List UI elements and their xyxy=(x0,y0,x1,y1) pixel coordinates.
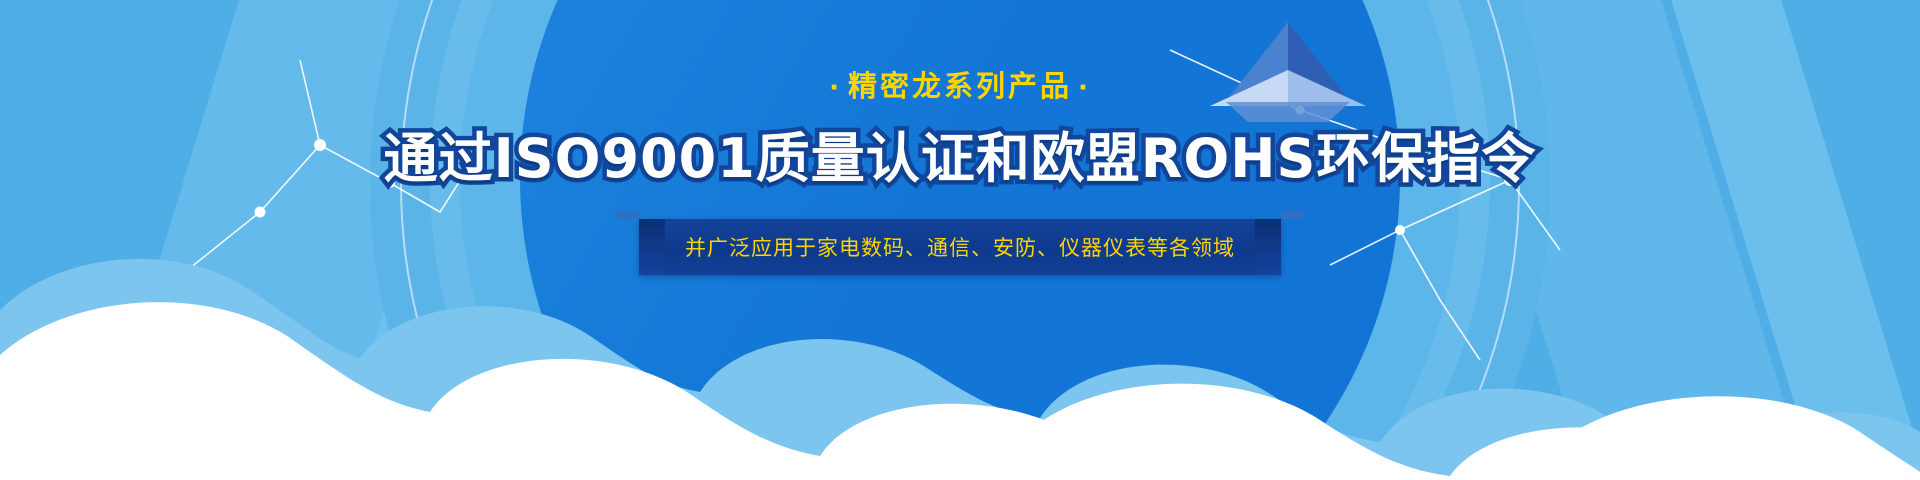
eyebrow-label: 精密龙系列产品 xyxy=(848,69,1072,103)
banner-content: ·精密龙系列产品· 通过ISO9001质量认证和欧盟ROHS环保指令 并广泛应用… xyxy=(0,0,1920,275)
subtitle-ribbon: 并广泛应用于家电数码、通信、安防、仪器仪表等各领域 xyxy=(639,219,1281,275)
ribbon-fold-right xyxy=(1255,219,1281,275)
promo-banner: ·精密龙系列产品· 通过ISO9001质量认证和欧盟ROHS环保指令 并广泛应用… xyxy=(0,0,1920,480)
ribbon-fold-left xyxy=(639,219,665,275)
subtitle-ribbon-wrap: 并广泛应用于家电数码、通信、安防、仪器仪表等各领域 xyxy=(0,219,1920,275)
headline-text: 通过ISO9001质量认证和欧盟ROHS环保指令 xyxy=(0,129,1920,189)
eyebrow-dot-right: · xyxy=(1072,73,1097,103)
eyebrow-text: ·精密龙系列产品· xyxy=(0,72,1920,101)
subtitle-text: 并广泛应用于家电数码、通信、安防、仪器仪表等各领域 xyxy=(685,236,1235,260)
eyebrow-dot-left: · xyxy=(823,73,848,103)
